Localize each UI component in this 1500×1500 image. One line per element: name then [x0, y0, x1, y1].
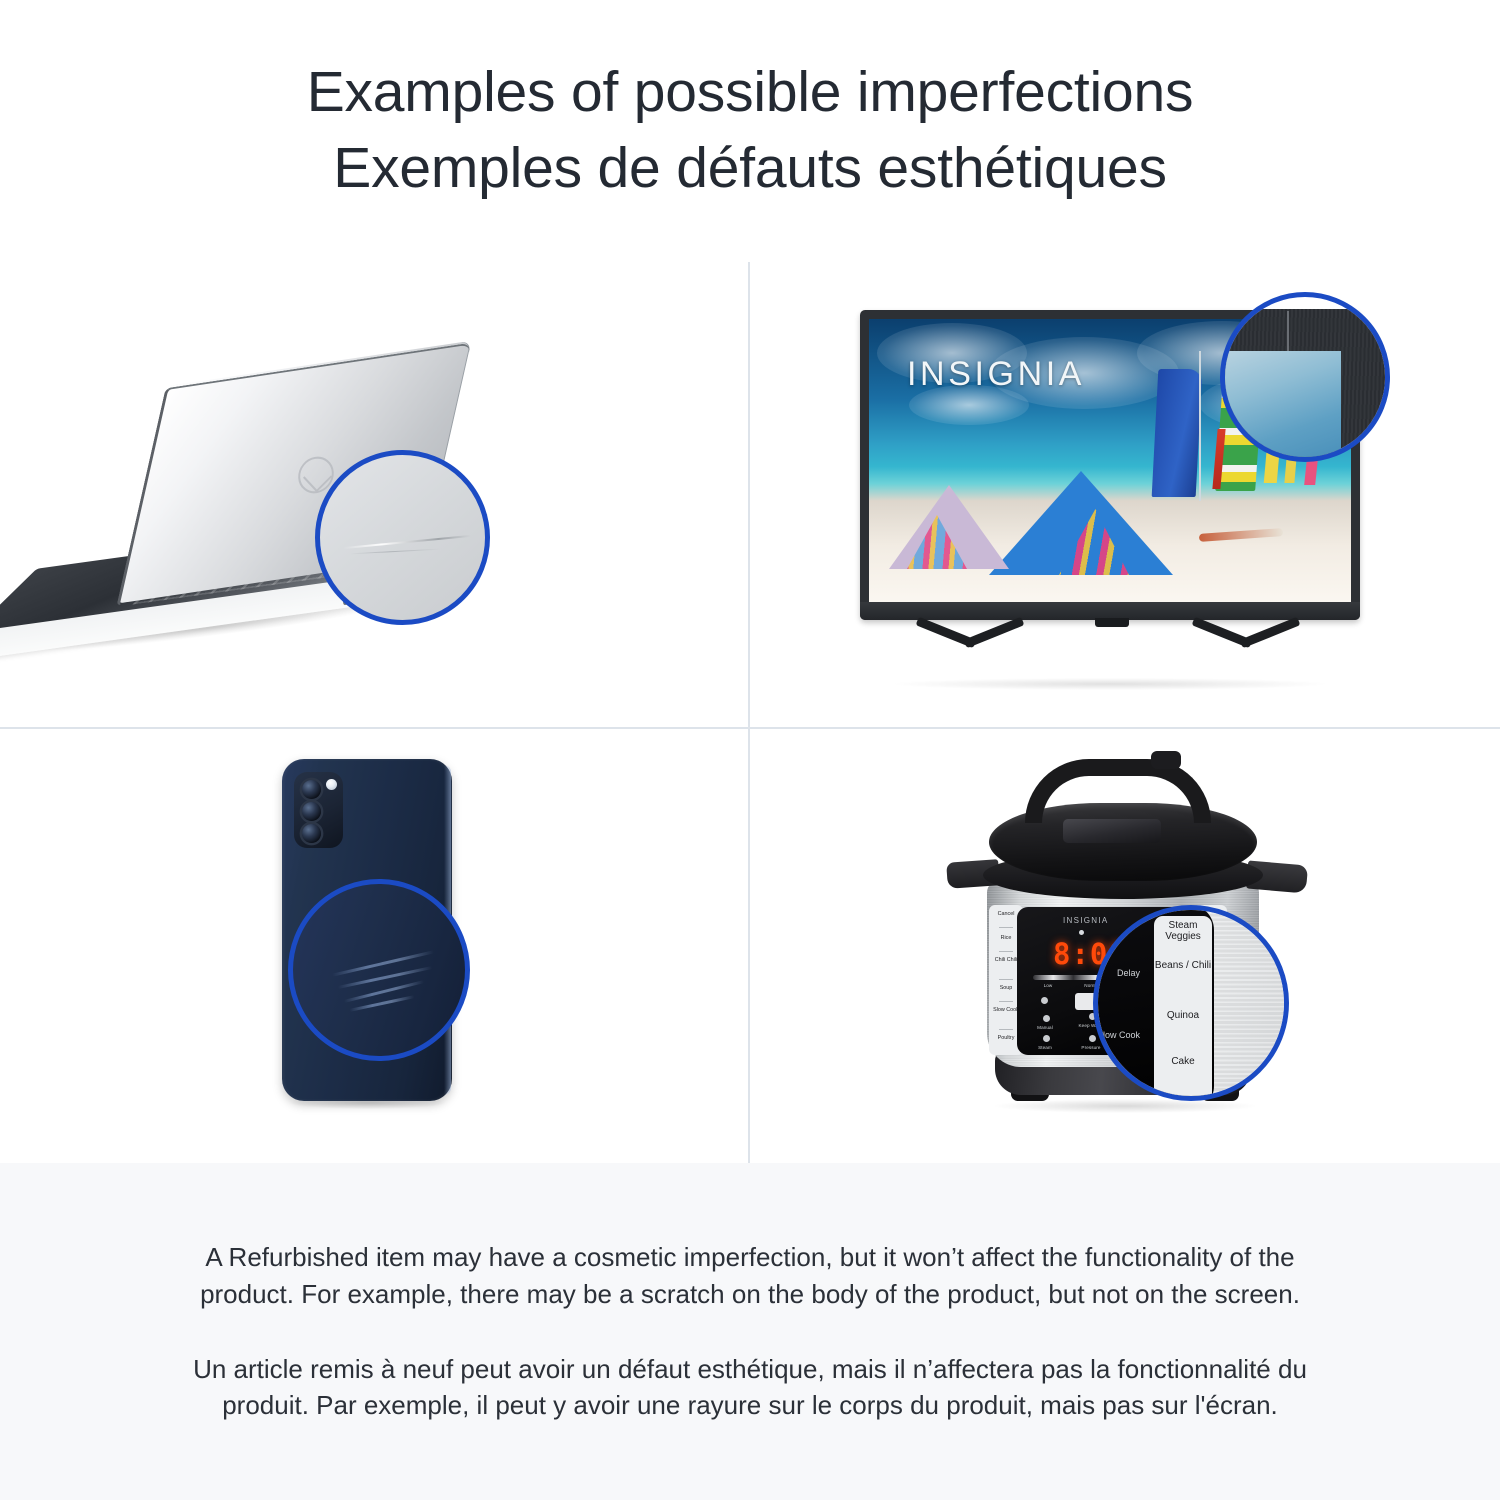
button-separator: [999, 951, 1013, 952]
tv-leg-left-b: [964, 617, 1025, 649]
page-header: Examples of possible imperfections Exemp…: [0, 0, 1500, 262]
product-examples-grid: INSIGNIA: [0, 262, 1500, 1163]
tv-ir-receiver-icon: [1095, 618, 1129, 627]
cooker-carry-handle[interactable]: [1025, 759, 1211, 823]
cooker-keypad-dot[interactable]: [1043, 1035, 1050, 1042]
camera-lens-icon: [302, 802, 321, 821]
button-separator: [999, 927, 1013, 928]
magnified-key-slowcook: Slow Cook: [1093, 1030, 1140, 1040]
magnified-key-delay: Delay: [1093, 968, 1140, 978]
scratch-mark-secondary: [350, 549, 440, 555]
magnified-panel: [1221, 351, 1341, 462]
magnified-button-column: [1154, 916, 1212, 1101]
disclaimer-paragraph-en: A Refurbished item may have a cosmetic i…: [190, 1239, 1310, 1313]
footer-disclaimer: A Refurbished item may have a cosmetic i…: [0, 1163, 1500, 1500]
page-title-fr: Exemples de défauts esthétiques: [333, 131, 1167, 207]
phone-illustration: [240, 759, 510, 1134]
cooker-status-indicator: [1079, 930, 1084, 935]
camera-flash-icon: [326, 779, 337, 790]
cooker-keypad-dot[interactable]: [1043, 1015, 1050, 1022]
slider-label-low: Low: [1037, 983, 1059, 988]
cooker-key-steam: Steam: [1029, 1045, 1061, 1050]
magnifier-circle-cooker: Steam Veggies Beans / Chili Quinoa Cake …: [1093, 905, 1289, 1101]
scuff-mark: [332, 950, 434, 976]
tv-shadow: [895, 678, 1325, 690]
cooker-minus-button[interactable]: [1041, 997, 1048, 1004]
magnified-tv-corner: [1220, 292, 1390, 462]
disclaimer-paragraph-fr: Un article remis à neuf peut avoir un dé…: [190, 1351, 1310, 1425]
button-separator: [999, 1029, 1013, 1030]
cooker-keypad-dot[interactable]: [1089, 1035, 1096, 1042]
cooker-steam-release-valve-icon[interactable]: [1151, 751, 1181, 769]
magnified-button-veggies: Steam Veggies: [1154, 920, 1212, 942]
cooker-key-manual: Manual: [1029, 1025, 1061, 1030]
example-cell-phone: [0, 729, 748, 1163]
magnifier-circle-tv: [1220, 292, 1390, 462]
magnified-button-quinoa: Quinoa: [1154, 1010, 1212, 1021]
magnified-button-beans: Beans / Chili: [1154, 960, 1212, 972]
tv-illustration: INSIGNIA: [855, 292, 1395, 692]
button-separator: [999, 1001, 1013, 1002]
button-separator: [999, 979, 1013, 980]
bezel-seam-defect: [1287, 311, 1289, 351]
example-cell-tv: INSIGNIA: [750, 262, 1500, 727]
laptop-illustration: [20, 362, 540, 652]
example-cell-laptop: [0, 262, 748, 727]
magnifier-circle-phone: [288, 879, 470, 1061]
pressure-cooker-illustration: Cancel Rice Chili Chili Soup Slow Cook P…: [925, 751, 1325, 1141]
sailboat-mast: [1199, 351, 1201, 501]
scratch-mark: [343, 535, 471, 549]
camera-lens-icon: [302, 780, 321, 799]
tv-leg-right-b: [1240, 617, 1301, 649]
beach-gear: [1199, 528, 1283, 542]
example-cell-pressure-cooker: Cancel Rice Chili Chili Soup Slow Cook P…: [750, 729, 1500, 1163]
refurbished-imperfections-infographic: Examples of possible imperfections Exemp…: [0, 0, 1500, 1500]
camera-lens-icon: [302, 824, 321, 843]
magnified-button-cake: Cake: [1154, 1056, 1212, 1067]
page-title-en: Examples of possible imperfections: [307, 55, 1194, 131]
tv-screen-brand-logo: INSIGNIA: [907, 355, 1085, 394]
magnifier-circle-laptop: [315, 450, 490, 625]
cooker-shadow: [995, 1099, 1255, 1113]
